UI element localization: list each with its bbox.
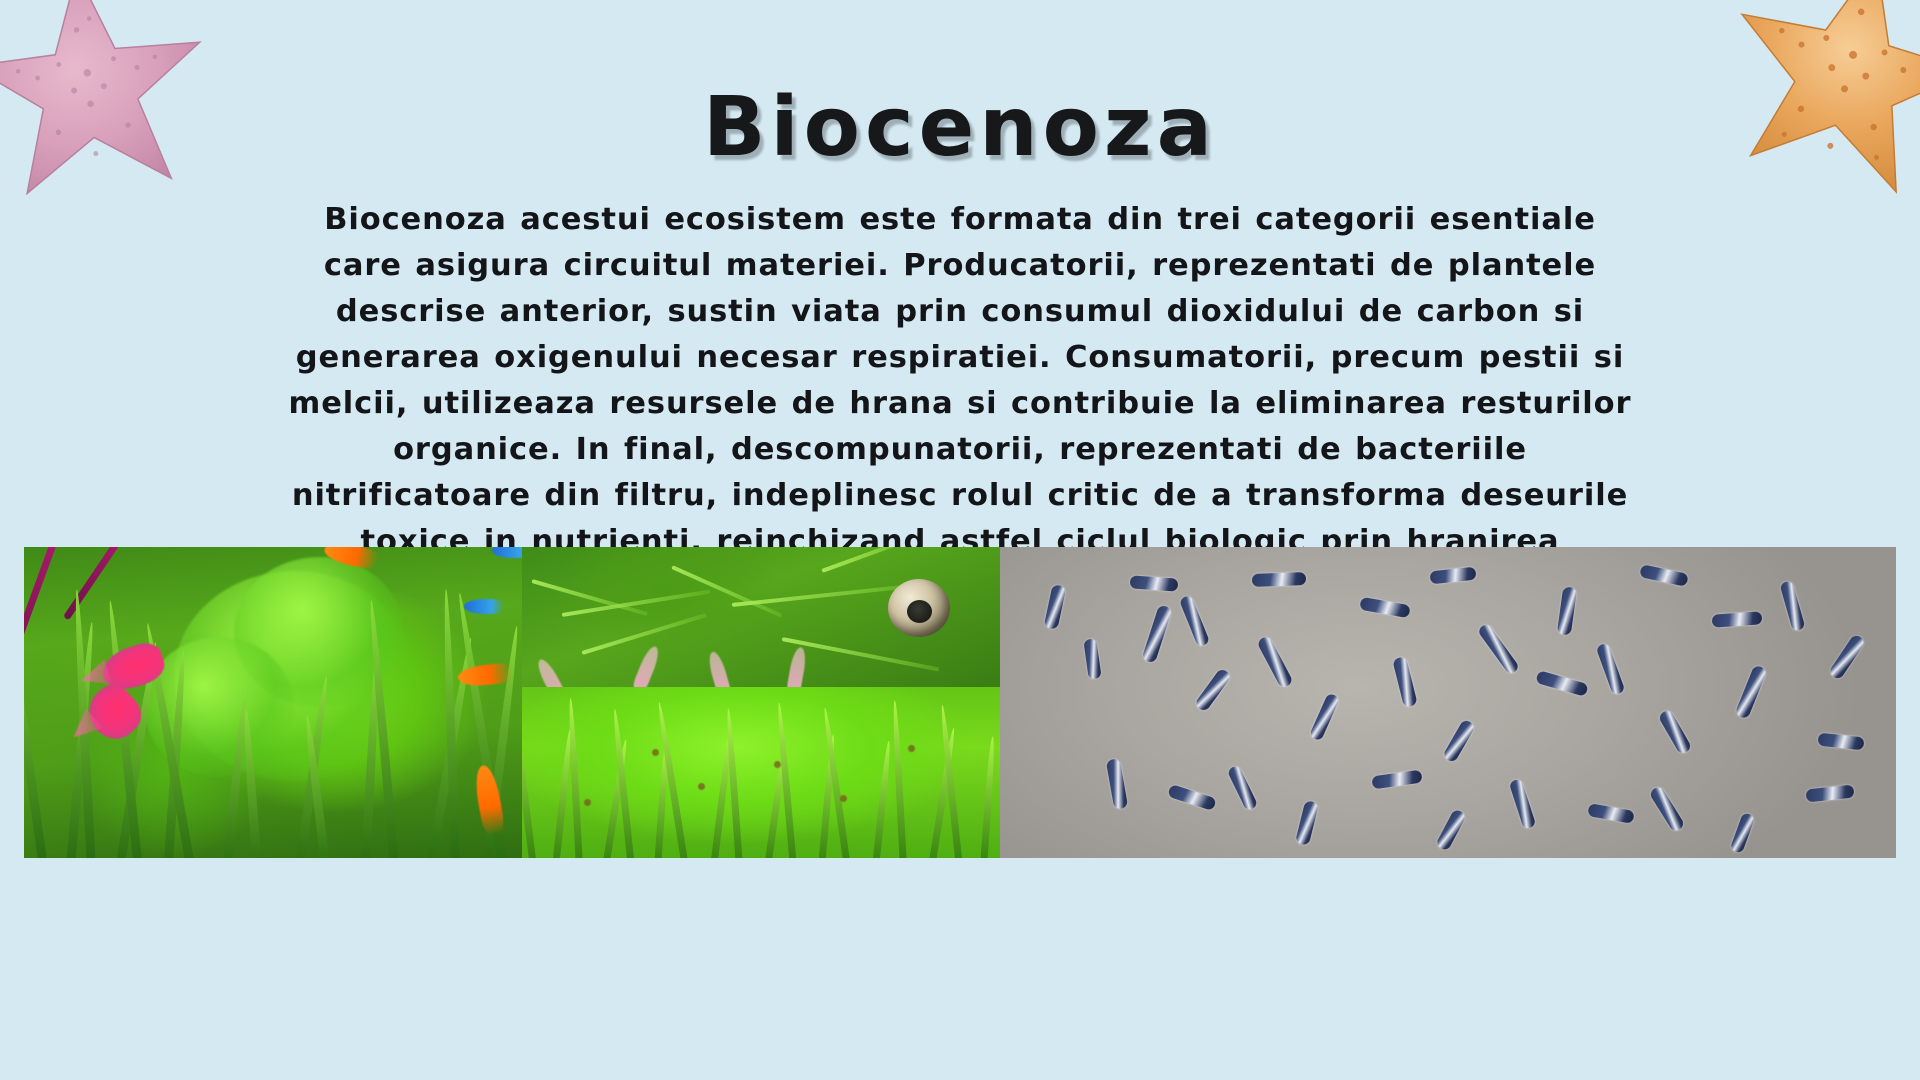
green-moss-photo <box>522 687 1000 858</box>
snail-on-plants-photo <box>522 547 1000 687</box>
slide-canvas: Biocenoza Biocenoza acestui ecosistem es… <box>0 0 1920 1080</box>
photo-strip <box>24 547 1896 858</box>
middle-photo-column <box>522 547 1000 858</box>
bacteria-microscope-photo <box>1000 547 1896 858</box>
planted-aquarium-photo <box>24 547 522 858</box>
page-title: Biocenoza <box>0 85 1920 171</box>
